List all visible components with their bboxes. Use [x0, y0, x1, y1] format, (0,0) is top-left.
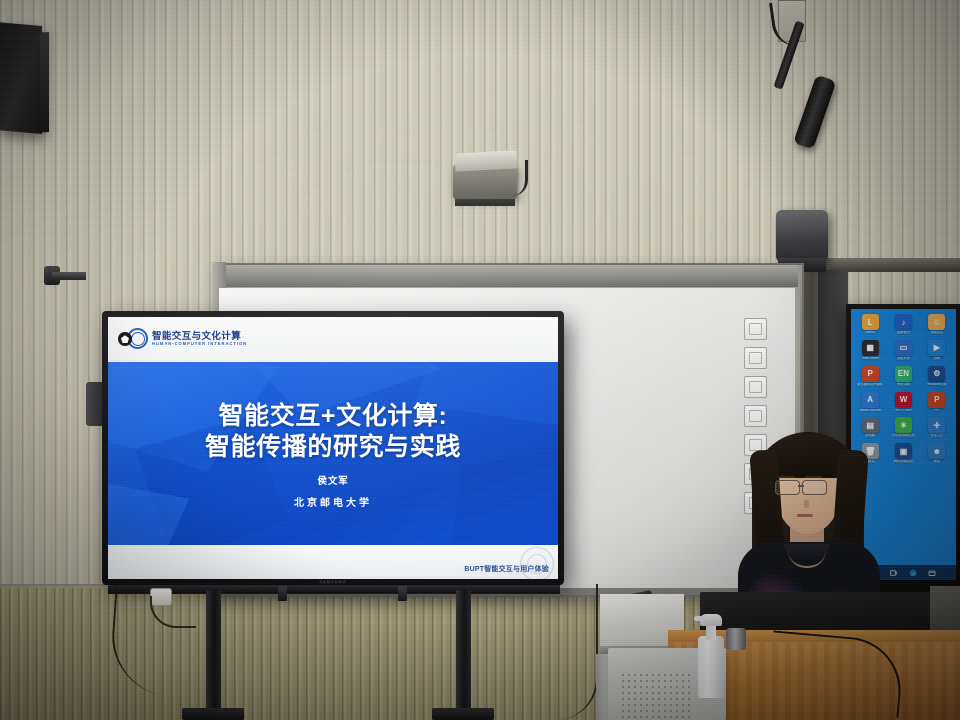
desktop-icon-label: 有道词典	[897, 383, 910, 387]
presenter-hair-top	[768, 434, 848, 478]
sanitizer-neck	[706, 624, 716, 640]
desktop-icon[interactable]: ♪酷我音乐	[887, 314, 919, 335]
desktop-icon-label: 向日葵远程控制	[892, 434, 914, 438]
slide-footer-text: BUPT智能交互与用户体验	[464, 564, 549, 574]
desktop-icon[interactable]: WWPS Office	[887, 392, 919, 413]
desktop-icon-label: 数字媒体技术课件	[857, 383, 883, 387]
desktop-icon-glyph: ☀	[895, 417, 912, 433]
glasses-lens-left	[775, 480, 800, 495]
desktop-icon-label: PPT	[934, 409, 940, 413]
glasses-lens-right	[802, 480, 827, 495]
desktop-icon-label: 酷我音乐	[897, 331, 910, 335]
slide-footer: BUPT智能交互与用户体验	[108, 545, 558, 579]
desktop-icon[interactable]: ☻微信	[921, 443, 953, 464]
desktop-icon[interactable]: PPPT	[921, 392, 953, 413]
desktop-icon-label: Adobe Acrobat	[860, 409, 881, 413]
metal-can[interactable]	[726, 628, 746, 650]
slide: 智能交互与文化计算 HUMAN-COMPUTER INTERACTION 智能交…	[108, 317, 558, 579]
desktop-icon[interactable]: EN有道词典	[887, 366, 919, 387]
ptz-camera	[776, 210, 828, 262]
logo-chinese-text: 智能交互与文化计算	[152, 332, 247, 342]
desktop-icon[interactable]: LLenovo	[854, 314, 886, 335]
tv-brand-label: SAMSUNG	[319, 579, 346, 584]
desktop-icon-label: 腾讯视频会议	[894, 460, 913, 464]
display-stand-foot-right	[432, 708, 494, 720]
presenter-mouth	[797, 514, 813, 517]
desktop-icon-glyph: P	[928, 392, 945, 408]
desktop-icon-glyph: EN	[895, 366, 912, 382]
hand-sanitizer-bottle[interactable]	[698, 636, 724, 698]
desktop-icon[interactable]: ▦TeamViewer	[854, 340, 886, 361]
sanitizer-nozzle	[694, 616, 706, 621]
desktop-icon[interactable]: ▭录屏大师	[887, 340, 919, 361]
wall-speaker-left	[0, 22, 42, 134]
display-screen: 智能交互与文化计算 HUMAN-COMPUTER INTERACTION 智能交…	[108, 317, 558, 579]
desktop-icon[interactable]: AAdobe Acrobat	[854, 392, 886, 413]
slide-title-line-1: 智能交互+文化计算:	[219, 401, 448, 432]
desktop-icon[interactable]: ☺视频会议	[921, 314, 953, 335]
display-stand-leg-left	[206, 590, 221, 720]
lecture-hall-scene: 智能交互与文化计算 HUMAN-COMPUTER INTERACTION 智能交…	[0, 0, 960, 720]
logo-text-block: 智能交互与文化计算 HUMAN-COMPUTER INTERACTION	[152, 332, 247, 347]
desktop-icon-label: WPS Office	[895, 409, 911, 413]
presenter-name: 侯文军	[318, 473, 349, 487]
desktop-icon-label: 安全卫士	[930, 434, 943, 438]
whiteboard-page-icon[interactable]	[744, 376, 767, 398]
presenter-nose	[804, 500, 809, 508]
desktop-icon-glyph: ▦	[862, 340, 879, 356]
desktop-icon-glyph: ☻	[928, 443, 945, 459]
desktop-icon-glyph: ✛	[928, 417, 945, 433]
slide-title-block: 智能交互+文化计算: 智能传播的研究与实践 侯文军 北京邮电大学	[108, 362, 558, 545]
lab-logo: 智能交互与文化计算 HUMAN-COMPUTER INTERACTION	[118, 328, 247, 350]
desktop-icon-glyph: ▶	[928, 340, 945, 356]
desktop-icon-glyph: ⚙	[928, 366, 945, 382]
desktop-icon[interactable]: P数字媒体技术课件	[854, 366, 886, 387]
whiteboard-pen-icon[interactable]	[744, 318, 767, 340]
desktop-icon-glyph: ♪	[895, 314, 912, 330]
wall-mount-arm	[52, 272, 86, 280]
hci-logo-icon	[118, 328, 148, 350]
presenter-affiliation: 北京邮电大学	[294, 494, 372, 509]
desktop-icon-label: TeamViewer	[861, 357, 878, 361]
desktop-icon-glyph: ▣	[895, 443, 912, 459]
display-stand-clip	[278, 586, 287, 601]
presentation-display[interactable]: 智能交互与文化计算 HUMAN-COMPUTER INTERACTION 智能交…	[102, 311, 564, 585]
desktop-icon-label: Windows设置	[927, 383, 946, 387]
edge-browser-icon[interactable]	[909, 569, 917, 577]
whiteboard-save-icon[interactable]	[744, 347, 767, 369]
desktop-icon-glyph: L	[862, 314, 879, 330]
whiteboard-track	[216, 265, 798, 287]
slide-header: 智能交互与文化计算 HUMAN-COMPUTER INTERACTION	[108, 317, 558, 362]
desktop-icon-glyph: ▭	[895, 340, 912, 356]
file-explorer-icon[interactable]	[928, 569, 936, 577]
desktop-icon-label: 录屏大师	[897, 357, 910, 361]
display-stand-foot-left	[182, 708, 244, 720]
speaker-grill	[620, 672, 694, 718]
display-stand-leg-right	[456, 590, 471, 720]
desktop-icon-glyph: A	[862, 392, 879, 408]
desktop-icon-glyph: W	[895, 392, 912, 408]
desktop-icon[interactable]: ⚙Windows设置	[921, 366, 953, 387]
desktop-icon-glyph: ☺	[928, 314, 945, 330]
slide-body: 智能交互+文化计算: 智能传播的研究与实践 侯文军 北京邮电大学	[108, 362, 558, 545]
side-cable	[556, 584, 598, 720]
desktop-icon[interactable]: ✛安全卫士	[921, 417, 953, 438]
desktop-icon-glyph: P	[862, 366, 879, 382]
desktop-icon[interactable]: ▶剪映	[921, 340, 953, 361]
desktop-icon-label: 视频会议	[930, 331, 943, 335]
desktop-icon-label: Lenovo	[865, 331, 875, 335]
display-stand-clip	[398, 586, 407, 601]
desktop-icon-label: 剪映	[934, 357, 940, 361]
footer-seal-icon	[520, 547, 554, 579]
glasses-bridge	[798, 485, 804, 487]
desktop-icon-label: 微信	[934, 460, 940, 464]
slide-title-line-2: 智能传播的研究与实践	[205, 432, 461, 463]
logo-english-text: HUMAN-COMPUTER INTERACTION	[152, 342, 247, 346]
